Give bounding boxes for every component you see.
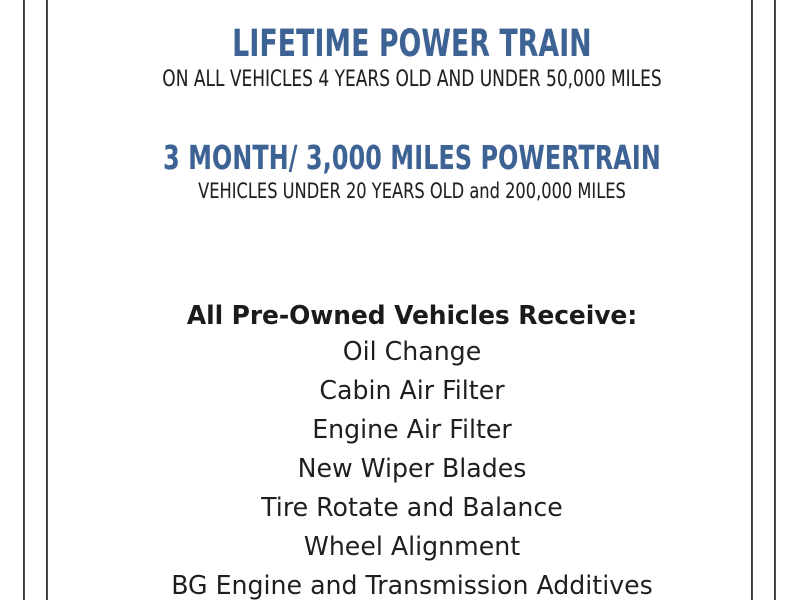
list-item: Oil Change xyxy=(61,333,763,372)
warranty-offer-title: LIFETIME POWER TRAIN xyxy=(122,24,701,64)
warranty-offer-subtitle: VEHICLES UNDER 20 YEARS OLD and 200,000 … xyxy=(101,178,724,204)
included-services-list: Oil Change Cabin Air Filter Engine Air F… xyxy=(50,333,774,600)
list-item: BG Engine and Transmission Additives xyxy=(61,567,763,600)
list-item: Cabin Air Filter xyxy=(61,372,763,411)
list-item: New Wiper Blades xyxy=(61,450,763,489)
included-services-heading: All Pre-Owned Vehicles Receive: xyxy=(64,300,759,333)
warranty-offer-3month-powertrain: 3 MONTH/ 3,000 MILES POWERTRAIN VEHICLES… xyxy=(50,140,774,204)
promotional-flyer: LIFETIME POWER TRAIN ON ALL VEHICLES 4 Y… xyxy=(0,0,800,600)
page-border-rule-left-inner xyxy=(46,0,48,600)
warranty-offer-title: 3 MONTH/ 3,000 MILES POWERTRAIN xyxy=(122,140,701,176)
list-item: Engine Air Filter xyxy=(61,411,763,450)
flyer-content: LIFETIME POWER TRAIN ON ALL VEHICLES 4 Y… xyxy=(50,0,774,600)
warranty-offer-subtitle: ON ALL VEHICLES 4 YEARS OLD AND UNDER 50… xyxy=(101,66,724,93)
page-border-rule-right-outer xyxy=(774,0,776,600)
list-item: Tire Rotate and Balance xyxy=(61,489,763,528)
page-border-rule-left-outer xyxy=(23,0,25,600)
included-services-section: All Pre-Owned Vehicles Receive: Oil Chan… xyxy=(50,300,774,600)
list-item: Wheel Alignment xyxy=(61,528,763,567)
warranty-offer-lifetime-powertrain: LIFETIME POWER TRAIN ON ALL VEHICLES 4 Y… xyxy=(50,24,774,93)
